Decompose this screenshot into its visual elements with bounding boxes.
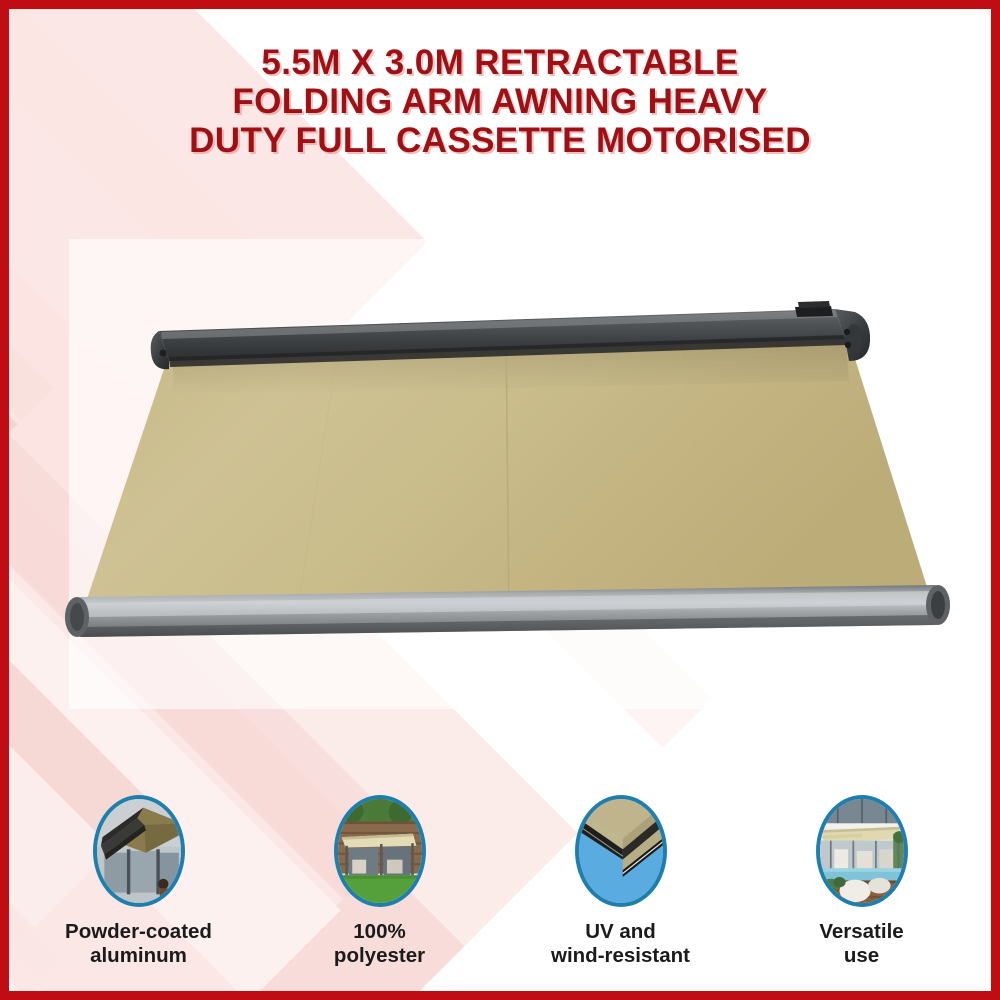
title-line-3: DUTY FULL CASSETTE MOTORISED [9,121,991,160]
right-roller-head [845,324,863,354]
front-bar-right-cap-inner [931,591,945,619]
awning-underside-sky-icon: ~ [575,795,667,907]
feature-badge-powder-coated-aluminum[interactable]: Powder-coated aluminum [18,795,259,969]
awning-cassette-closeup-icon [93,795,185,907]
left-cap-bolt [160,350,167,357]
badge-label-3-line1: UV and [551,920,690,945]
badge-label-2: 100% polyester [334,920,425,969]
house-with-awning-icon [334,795,426,907]
badge-label-1-line1: Powder-coated [65,920,212,945]
wall-mount-bracket-top [798,301,830,308]
badge-label-2-line1: 100% [334,920,425,945]
badge-label-4-line1: Versatile [819,920,903,945]
badge-label-4: Versatile use [819,920,903,969]
feature-badge-row: Powder-coated aluminum [18,795,982,969]
badge-label-3: UV and wind-resistant [551,920,690,969]
title-line-1: 5.5M X 3.0M RETRACTABLE [9,43,991,82]
right-cap-bolt-lower [845,342,851,348]
title-line-2: FOLDING ARM AWNING HEAVY [9,82,991,121]
feature-badge-versatile-use[interactable]: Versatile use [741,795,982,969]
badge-label-2-line2: polyester [334,944,425,969]
badge-label-1-line2: aluminum [65,944,212,969]
svg-text:~: ~ [584,807,587,813]
badge-label-4-line2: use [819,944,903,969]
badge-label-3-line2: wind-resistant [551,944,690,969]
poolside-patio-awning-icon [816,795,908,907]
feature-badge-uv-and-wind-resistant[interactable]: ~ UV and wind-resistant [500,795,741,969]
badge-label-1: Powder-coated aluminum [65,920,212,969]
front-bar-left-cap-inner [70,603,84,631]
right-cap-bolt-upper [844,329,850,335]
product-title: 5.5M X 3.0M RETRACTABLE FOLDING ARM AWNI… [9,43,991,161]
product-marketing-image: 5.5M X 3.0M RETRACTABLE FOLDING ARM AWNI… [0,0,1000,1000]
feature-badge-100-polyester[interactable]: 100% polyester [259,795,500,969]
